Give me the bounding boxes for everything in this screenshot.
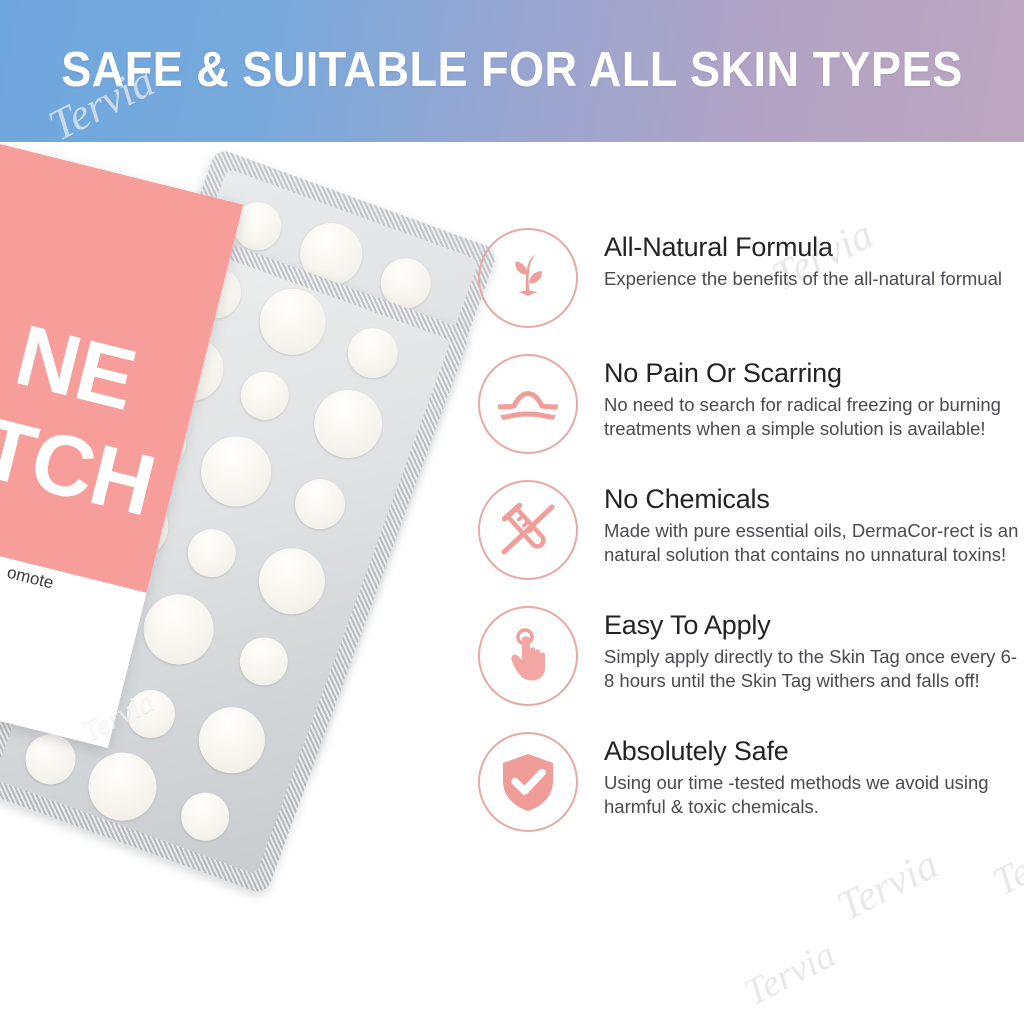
product-image: NE TCH omote [0,142,500,1024]
feature-description: Simply apply directly to the Skin Tag on… [604,645,1024,694]
tap-hand-icon [478,606,578,706]
feature-item: Absolutely Safe Using our time -tested m… [478,732,1024,832]
feature-text: No Pain Or Scarring No need to search fo… [604,354,1024,442]
feature-description: Made with pure essential oils, DermaCor-… [604,519,1024,568]
feature-description: Experience the benefits of the all-natur… [604,267,1024,291]
feature-title: No Pain Or Scarring [604,358,1024,389]
feature-title: Easy To Apply [604,610,1024,641]
feature-list: All-Natural Formula Experience the benef… [478,228,1024,858]
feature-item: Easy To Apply Simply apply directly to t… [478,606,1024,706]
sprout-icon [478,228,578,328]
feature-title: Absolutely Safe [604,736,1024,767]
feature-title: All-Natural Formula [604,232,1024,263]
page-title-text: SAFE & SUITABLE FOR ALL SKIN TYPES [61,42,962,98]
package-title-line-2: TCH [0,398,164,536]
watermark: Tervia [737,933,842,1016]
page-title: SAFE & SUITABLE FOR ALL SKIN TYPES [0,42,1024,98]
feature-text: No Chemicals Made with pure essential oi… [604,480,1024,568]
feature-text: All-Natural Formula Experience the benef… [604,228,1024,291]
feature-text: Easy To Apply Simply apply directly to t… [604,606,1024,694]
infographic-page: SAFE & SUITABLE FOR ALL SKIN TYPES [0,0,1024,1024]
feature-description: No need to search for radical freezing o… [604,393,1024,442]
feature-item: No Chemicals Made with pure essential oi… [478,480,1024,580]
header-banner: SAFE & SUITABLE FOR ALL SKIN TYPES [0,0,1024,142]
skin-layers-icon [478,354,578,454]
feature-text: Absolutely Safe Using our time -tested m… [604,732,1024,820]
feature-item: All-Natural Formula Experience the benef… [478,228,1024,328]
feature-item: No Pain Or Scarring No need to search fo… [478,354,1024,454]
feature-description: Using our time -tested methods we avoid … [604,771,1024,820]
shield-check-icon [478,732,578,832]
no-test-tube-icon [478,480,578,580]
feature-title: No Chemicals [604,484,1024,515]
